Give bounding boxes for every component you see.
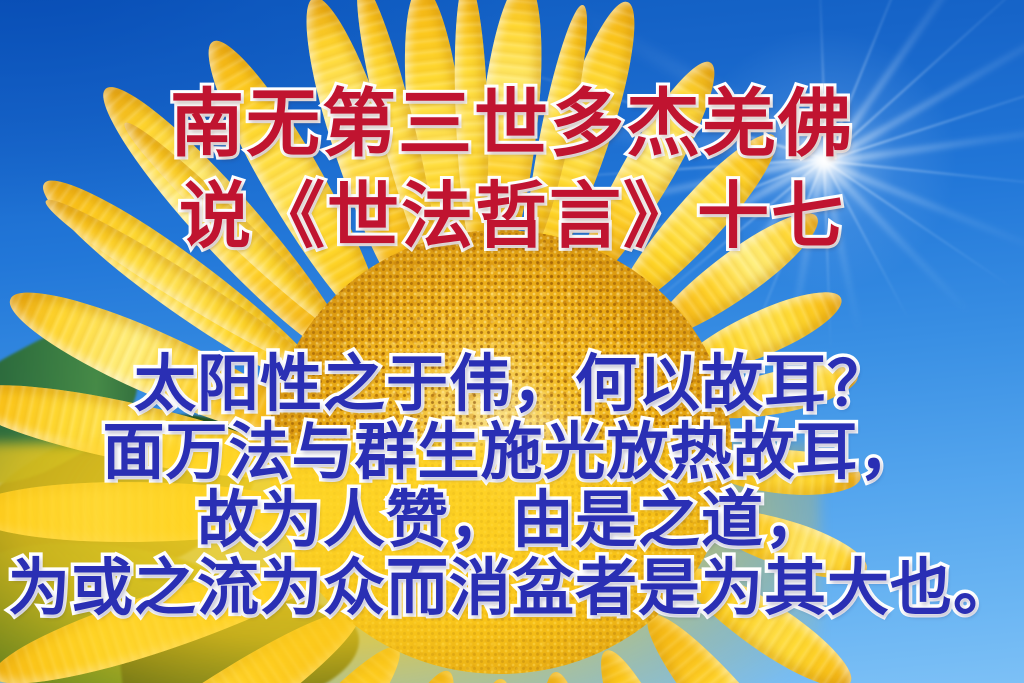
quote-line-4: 为或之流为众而消盆者是为其大也。 — [0, 556, 1024, 620]
text-layer: 南无第三世多杰羌佛 说《世法哲言》十七 太阳性之于伟，何以故耳？ 面万法与群生施… — [0, 0, 1024, 683]
title-line-2: 说《世法哲言》十七 — [0, 170, 1024, 262]
title-block: 南无第三世多杰羌佛 说《世法哲言》十七 — [0, 78, 1024, 262]
poster-canvas: 南无第三世多杰羌佛 说《世法哲言》十七 太阳性之于伟，何以故耳？ 面万法与群生施… — [0, 0, 1024, 683]
title-line-1: 南无第三世多杰羌佛 — [0, 78, 1024, 170]
quote-line-1: 太阳性之于伟，何以故耳？ — [0, 352, 1024, 416]
quote-line-3: 故为人赞，由是之道， — [0, 488, 1024, 552]
quote-line-2: 面万法与群生施光放热故耳， — [0, 420, 1024, 484]
quote-block: 太阳性之于伟，何以故耳？ 面万法与群生施光放热故耳， 故为人赞，由是之道， 为或… — [0, 352, 1024, 620]
